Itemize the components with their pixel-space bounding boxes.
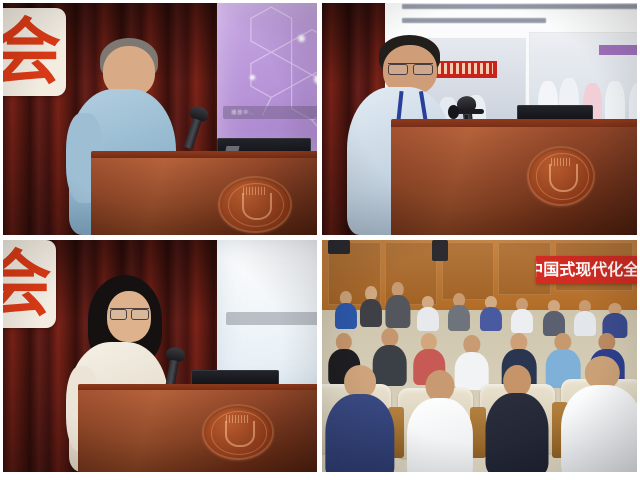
- screen-toolbar: [226, 312, 317, 325]
- attendee-body: [511, 309, 533, 333]
- projection-screen-white: [217, 240, 317, 391]
- photo-collage: 播放中… 会: [0, 0, 640, 480]
- photo-panel-top-right: [322, 3, 637, 235]
- attendee-foreground: [561, 356, 637, 472]
- lectern: [91, 151, 317, 235]
- photo-panel-bottom-right: 以中国式现代化全面推进: [322, 240, 637, 472]
- attendee: [360, 286, 382, 325]
- lectern-body: [391, 127, 637, 235]
- lectern: [78, 384, 317, 472]
- university-seal-icon: [202, 404, 274, 460]
- attendee: [417, 296, 439, 331]
- attendee: [543, 300, 565, 335]
- projection-screen-purple: 播放中…: [217, 3, 317, 151]
- attendee-body: [385, 295, 410, 328]
- seal-monogram: [549, 164, 577, 193]
- screen-toolbar: 播放中…: [223, 106, 317, 120]
- attendee-foreground: [407, 370, 473, 472]
- eyeglasses-icon: [388, 63, 433, 74]
- attendee-foreground: [325, 365, 394, 472]
- stage-banner-character: 会: [3, 8, 66, 96]
- hall-banner: 以中国式现代化全面推进: [536, 256, 637, 284]
- slide-glow-dot: [314, 75, 317, 84]
- attendee-body: [561, 385, 637, 472]
- seal-monogram: [225, 421, 255, 447]
- university-seal-icon: [527, 146, 595, 206]
- hall-banner-text: 以中国式现代化全面推进: [536, 262, 637, 278]
- screen-toolbar-label: 播放中…: [231, 109, 255, 116]
- attendee-body: [360, 299, 382, 327]
- slide-photo-banner: [599, 45, 637, 56]
- attendee-body: [407, 398, 473, 472]
- attendee-body: [486, 393, 549, 472]
- attendee-body: [335, 303, 357, 329]
- attendee: [448, 293, 470, 330]
- attendee: [335, 291, 357, 328]
- lectern: [391, 119, 637, 235]
- stand-clip: [448, 105, 459, 119]
- eyeglasses-icon: [110, 308, 149, 319]
- attendee-body: [479, 307, 501, 331]
- molecule-hex-icon: [217, 3, 317, 151]
- photo-panel-top-left: 播放中… 会: [3, 3, 317, 235]
- slide-glow-dot: [298, 35, 305, 42]
- attendee-body: [325, 394, 394, 472]
- attendee: [480, 296, 502, 331]
- ceiling-speaker: [432, 240, 448, 261]
- ceiling-speaker: [328, 240, 350, 254]
- wall-panel: [442, 242, 494, 300]
- lectern-body: [78, 390, 317, 472]
- university-seal-icon: [218, 176, 291, 232]
- attendee-body: [416, 307, 438, 331]
- photo-panel-bottom-left: 会: [3, 240, 317, 472]
- stage-banner-character: 会: [3, 240, 56, 328]
- microphone-body: [184, 118, 202, 149]
- slide-text-line: [402, 18, 546, 23]
- seal-monogram: [242, 193, 272, 220]
- attendee-body: [448, 305, 470, 331]
- attendee: [385, 282, 410, 326]
- attendee: [511, 298, 533, 333]
- slide-text-line: [402, 4, 637, 9]
- attendee-foreground: [486, 365, 549, 472]
- attendee: [574, 300, 596, 335]
